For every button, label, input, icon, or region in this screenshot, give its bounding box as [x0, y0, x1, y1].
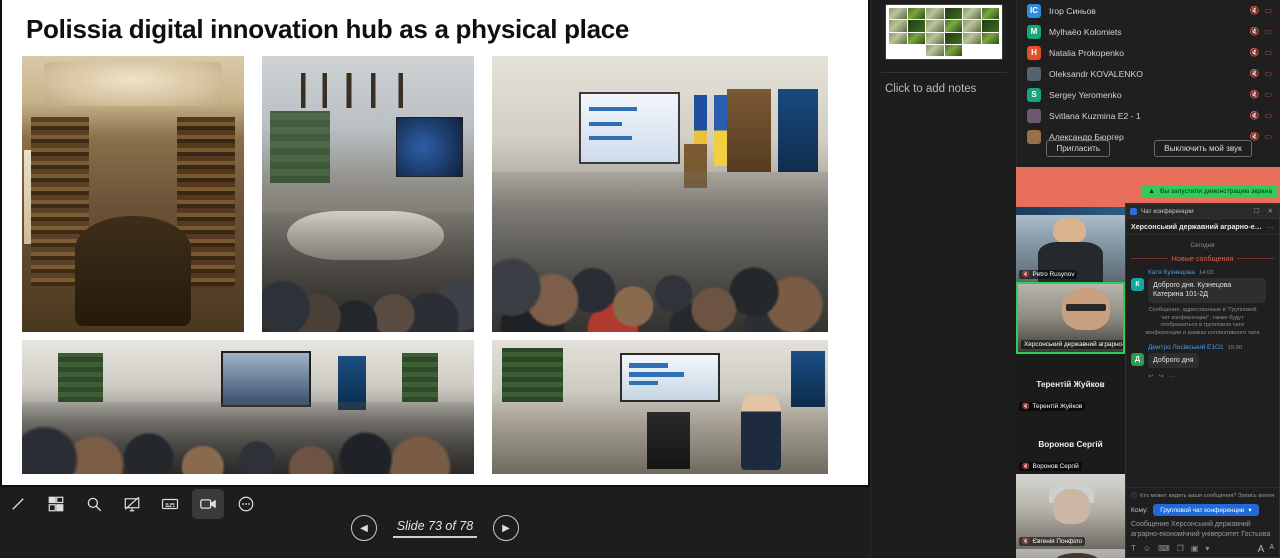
info-icon: ⓘ — [1131, 491, 1137, 500]
chat-recipient-row: Кому: Групповой чат конференции ▾ — [1131, 504, 1274, 516]
participant-status-icons: 🔇▭ — [1249, 91, 1272, 99]
participant-name: Natalia Prokopenko — [1049, 48, 1241, 58]
camera-off-icon[interactable]: ▭ — [1264, 112, 1272, 120]
presenter-toolbar: ◀ Slide 73 of 78 ▶ — [0, 487, 870, 558]
participant-status-icons: 🔇▭ — [1249, 49, 1272, 57]
chat-privacy-note[interactable]: ⓘ Кто может видеть ваши сообщения? Запис… — [1131, 491, 1274, 500]
powerpoint-presenter-view: Polissia digital innovation hub as a phy… — [0, 0, 1016, 558]
message-author[interactable]: Дмитро Лосівський Е1О1 — [1148, 344, 1224, 351]
video-tile-terentii-zhuikov[interactable]: Терентій Жуйков 🔇 Терентій Жуйков — [1016, 354, 1125, 414]
chat-system-note: Сообщения, адресованные в "Групповой чат… — [1145, 307, 1260, 338]
avatar: S — [1027, 88, 1041, 102]
participant-name: Svitlana Kuzmina E2 - 1 — [1049, 111, 1241, 121]
chat-message: Катя Кузнецова14:03КДоброго дня. Кузнецо… — [1131, 269, 1274, 303]
tile-name-label: 🔇 Євгенія Понфіло — [1019, 537, 1085, 546]
text-format-icon[interactable]: T — [1131, 544, 1136, 553]
new-messages-separator: Новые сообщения — [1131, 254, 1274, 263]
notes-placeholder[interactable]: Click to add notes — [885, 83, 1005, 95]
participant-row[interactable]: Svitlana Kuzmina E2 - 1🔇▭ — [1017, 105, 1280, 126]
mute-icon[interactable]: 🔇 — [1249, 70, 1259, 78]
message-time: 15:00 — [1228, 345, 1243, 351]
screen-share-band: ▲ Вы запустили демонстрацию экрана — [1016, 167, 1280, 207]
mute-icon[interactable]: 🔇 — [1249, 49, 1259, 57]
chat-app-icon — [1130, 208, 1137, 215]
chat-window-title: Чат конференции — [1141, 208, 1248, 215]
message-action-icon[interactable]: ↪ — [1158, 372, 1163, 380]
message-meta: Дмитро Лосівський Е1О115:00 — [1148, 344, 1274, 351]
message-time: 14:03 — [1199, 270, 1214, 276]
more-icon[interactable]: ▾ — [1205, 544, 1209, 553]
chat-message: Дмитро Лосівський Е1О115:00ДДоброго дня — [1131, 344, 1274, 368]
photo-library-meeting-room — [20, 54, 246, 334]
slide-navigation: ◀ Slide 73 of 78 ▶ — [0, 515, 870, 541]
invite-button[interactable]: Пригласить — [1046, 140, 1110, 157]
zoom-sidebar: ICІгор Синьов🔇▭MMylhaёo Kolomiets🔇▭HNata… — [1016, 0, 1280, 558]
chat-input[interactable]: Сообщение Херсонський державний аграрно-… — [1131, 520, 1274, 540]
photo-seminar-audience — [20, 338, 476, 476]
to-label: Кому: — [1131, 507, 1148, 514]
video-tile-voronov-serhii[interactable]: Воронов Сергій 🔇 Воронов Сергій — [1016, 414, 1125, 474]
participant-row[interactable]: SSergey Yeromenko🔇▭ — [1017, 84, 1280, 105]
file-icon[interactable]: ❐ — [1177, 544, 1184, 553]
chat-window: Чат конференции ☐ ✕ Херсонський державни… — [1125, 203, 1280, 558]
minimize-icon[interactable]: ☐ — [1252, 207, 1262, 215]
participant-name: Mylhaёo Kolomiets — [1049, 27, 1241, 37]
tile-name-label: 🔇 Petro Rusynov — [1019, 270, 1077, 279]
participant-name: Ігор Синьов — [1049, 6, 1241, 16]
emoji-icon[interactable]: ☺ — [1143, 544, 1151, 553]
mute-icon: 🔇 — [1022, 403, 1029, 410]
photo-auditorium-presentation — [490, 54, 830, 334]
mute-icon[interactable]: 🔇 — [1249, 28, 1259, 36]
recipient-dropdown[interactable]: Групповой чат конференции ▾ — [1153, 504, 1258, 516]
participants-panel: ICІгор Синьов🔇▭MMylhaёo Kolomiets🔇▭HNata… — [1016, 0, 1280, 167]
camera-off-icon[interactable]: ▭ — [1264, 91, 1272, 99]
chat-thread-header[interactable]: Херсонський державний аграрно-економічни… — [1126, 219, 1279, 235]
chat-message-list[interactable]: Сегодня Новые сообщения Катя Кузнецова14… — [1126, 235, 1279, 487]
font-size-controls: A A — [1258, 544, 1274, 555]
participant-status-icons: 🔇▭ — [1249, 112, 1272, 120]
participant-row[interactable]: Oleksandr KOVALENKO🔇▭ — [1017, 63, 1280, 84]
privacy-note-label: Кто может видеть ваши сообщения? Запись … — [1140, 493, 1274, 499]
avatar: IC — [1027, 4, 1041, 18]
tile-center-name: Воронов Сергій — [1038, 440, 1102, 449]
chevron-down-icon: ▾ — [1248, 506, 1251, 514]
participant-row[interactable]: HNatalia Prokopenko🔇▭ — [1017, 42, 1280, 63]
previous-slide-button[interactable]: ◀ — [351, 515, 377, 541]
close-icon[interactable]: ✕ — [1266, 207, 1275, 215]
participant-status-icons: 🔇▭ — [1249, 28, 1272, 36]
tile-center-name: Терентій Жуйков — [1036, 380, 1104, 389]
participants-actions: Пригласить Выключить мой звук — [1017, 140, 1280, 157]
image-icon[interactable]: ▣ — [1191, 544, 1199, 553]
font-size-increase-icon[interactable]: A — [1258, 544, 1265, 555]
photo-speaker-at-lectern — [490, 338, 830, 476]
avatar: H — [1027, 46, 1041, 60]
message-text[interactable]: Доброго дня — [1148, 353, 1199, 368]
message-action-icon[interactable]: … — [1169, 372, 1176, 380]
tile-name-label: 🔇 Воронов Сергій — [1019, 462, 1082, 471]
slide-title: Polissia digital innovation hub as a phy… — [26, 14, 629, 45]
camera-off-icon[interactable]: ▭ — [1264, 70, 1272, 78]
screenshot-icon[interactable]: ⌨ — [1158, 544, 1170, 553]
avatar — [1027, 67, 1041, 81]
mute-icon[interactable]: 🔇 — [1249, 112, 1259, 120]
font-size-decrease-icon[interactable]: A — [1269, 544, 1274, 555]
mute-icon: 🔇 — [1022, 538, 1029, 545]
tile-name-label: Херсонський державний аграрно- — [1021, 340, 1124, 349]
participant-status-icons: 🔇▭ — [1249, 7, 1272, 15]
chat-composer-icons: T ☺ ⌨ ❐ ▣ ▾ — [1131, 544, 1274, 553]
notes-divider — [881, 72, 1007, 73]
share-icon: ▲ — [1148, 188, 1155, 195]
participant-row[interactable]: ICІгор Синьов🔇▭ — [1017, 0, 1280, 21]
message-text[interactable]: Доброго дня. Кузнецова Катерина 101-2Д — [1148, 278, 1266, 303]
mute-icon[interactable]: 🔇 — [1249, 7, 1259, 15]
photo-roundtable-discussion — [260, 54, 476, 334]
message-author[interactable]: Катя Кузнецова — [1148, 269, 1195, 276]
share-started-toast: ▲ Вы запустили демонстрацию экрана — [1142, 185, 1278, 198]
next-slide-button[interactable]: ▶ — [493, 515, 519, 541]
mute-icon[interactable]: 🔇 — [1249, 91, 1259, 99]
avatar: К — [1131, 278, 1144, 291]
video-tile-strip: 🔇 Petro Rusynov Херсонський державний аг… — [1016, 207, 1125, 558]
message-row: ДДоброго дня — [1131, 353, 1274, 368]
mute-icon: 🔇 — [1022, 271, 1029, 278]
avatar: M — [1027, 25, 1041, 39]
chat-thread-title: Херсонський державний аграрно-економічни… — [1131, 223, 1264, 231]
screen-root: Polissia digital innovation hub as a phy… — [0, 0, 1280, 558]
camera-off-icon[interactable]: ▭ — [1264, 7, 1272, 15]
chat-titlebar[interactable]: Чат конференции ☐ ✕ — [1126, 204, 1279, 219]
chevron-down-icon[interactable]: … — [1267, 223, 1274, 230]
video-tile-petro-rusynov[interactable]: 🔇 Petro Rusynov — [1016, 207, 1125, 282]
participant-name: Sergey Yeromenko — [1049, 90, 1241, 100]
notes-column: Click to add notes — [870, 0, 1016, 558]
mute-icon: 🔇 — [1022, 463, 1029, 470]
chat-day-label: Сегодня — [1131, 242, 1274, 249]
participant-status-icons: 🔇▭ — [1249, 70, 1272, 78]
message-meta: Катя Кузнецова14:03 — [1148, 269, 1274, 276]
camera-off-icon[interactable]: ▭ — [1264, 49, 1272, 57]
message-actions: ↩↪… — [1148, 372, 1274, 380]
message-action-icon[interactable]: ↩ — [1148, 372, 1153, 380]
avatar: Д — [1131, 353, 1144, 366]
chat-composer: ⓘ Кто может видеть ваши сообщения? Запис… — [1126, 487, 1279, 557]
camera-off-icon[interactable]: ▭ — [1264, 28, 1272, 36]
tile-name-label: 🔇 Терентій Жуйков — [1019, 402, 1085, 411]
video-tile-active-speaker[interactable]: Херсонський державний аграрно- — [1016, 282, 1125, 354]
participant-row[interactable]: MMylhaёo Kolomiets🔇▭ — [1017, 21, 1280, 42]
new-messages-label: Новые сообщения — [1172, 254, 1234, 263]
video-tile-natalia-prokopenko[interactable]: 🔇 Natalia Prokopenko — [1016, 549, 1125, 558]
share-toast-label: Вы запустили демонстрацию экрана — [1160, 188, 1272, 195]
next-slide-thumbnail[interactable] — [885, 4, 1003, 60]
current-slide[interactable]: Polissia digital innovation hub as a phy… — [2, 0, 868, 485]
slide-stage: Polissia digital innovation hub as a phy… — [0, 0, 870, 487]
recipient-value: Групповой чат конференции — [1160, 507, 1244, 514]
slide-counter: Slide 73 of 78 — [393, 519, 477, 538]
mute-me-button[interactable]: Выключить мой звук — [1154, 140, 1252, 157]
video-tile-yevheniia-ponfilo[interactable]: 🔇 Євгенія Понфіло — [1016, 474, 1125, 549]
participant-name: Oleksandr KOVALENKO — [1049, 69, 1241, 79]
message-row: КДоброго дня. Кузнецова Катерина 101-2Д — [1131, 278, 1274, 303]
avatar — [1027, 109, 1041, 123]
